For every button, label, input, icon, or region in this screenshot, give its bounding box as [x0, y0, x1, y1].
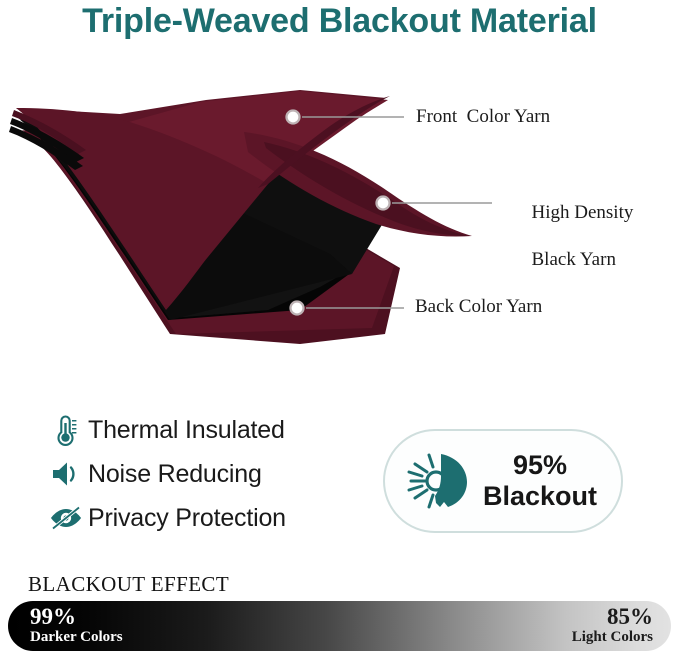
- eye-slash-icon: [44, 499, 88, 537]
- gradient-bar-right-stat: 85% Light Colors: [572, 605, 653, 646]
- sun-blocked-by-curtain-icon: [401, 446, 477, 516]
- blackout-badge-percent: 95%: [513, 450, 567, 480]
- blackout-effect-heading: BLACKOUT EFFECT: [28, 572, 229, 597]
- callout-label-front-color-yarn: Front Color Yarn: [416, 105, 550, 128]
- callout-label-high-density-line2: Black Yarn: [532, 249, 616, 270]
- callout-label-back-color-yarn: Back Color Yarn: [415, 295, 542, 318]
- blackout-badge-text: 95% Blackout: [483, 450, 597, 512]
- speaker-sound-icon: [44, 455, 88, 493]
- feature-row-noise-reducing: Noise Reducing: [44, 452, 374, 496]
- infographic-page: Triple-Weaved Blackout Material: [0, 0, 679, 655]
- back-circle-marker: [291, 302, 304, 315]
- gradient-bar-right-percent: 85%: [572, 605, 653, 629]
- high-density-circle-marker: [377, 197, 390, 210]
- feature-label-noise-reducing: Noise Reducing: [88, 460, 262, 489]
- feature-row-privacy-protection: Privacy Protection: [44, 496, 374, 540]
- callout-label-high-density-black-yarn: High Density Black Yarn: [503, 178, 633, 294]
- gradient-bar-left-percent: 99%: [30, 605, 123, 629]
- feature-row-thermal-insulated: Thermal Insulated: [44, 408, 374, 452]
- feature-label-thermal-insulated: Thermal Insulated: [88, 416, 285, 445]
- blackout-percentage-badge: 95% Blackout: [383, 429, 623, 533]
- thermometer-icon: [44, 411, 88, 449]
- blackout-effect-gradient-bar: 99% Darker Colors 85% Light Colors: [8, 601, 671, 651]
- gradient-bar-left-caption: Darker Colors: [30, 629, 123, 646]
- triple-layer-fabric-diagram: Front Color Yarn High Density Black Yarn…: [0, 72, 679, 352]
- feature-label-privacy-protection: Privacy Protection: [88, 504, 286, 533]
- front-circle-marker: [287, 111, 300, 124]
- gradient-bar-left-stat: 99% Darker Colors: [30, 605, 123, 646]
- page-title: Triple-Weaved Blackout Material: [0, 2, 679, 41]
- callout-label-high-density-line1: High Density: [532, 202, 634, 223]
- gradient-bar-right-caption: Light Colors: [572, 629, 653, 646]
- blackout-badge-caption: Blackout: [483, 481, 597, 511]
- feature-list: Thermal Insulated Noise Reducing: [44, 408, 374, 540]
